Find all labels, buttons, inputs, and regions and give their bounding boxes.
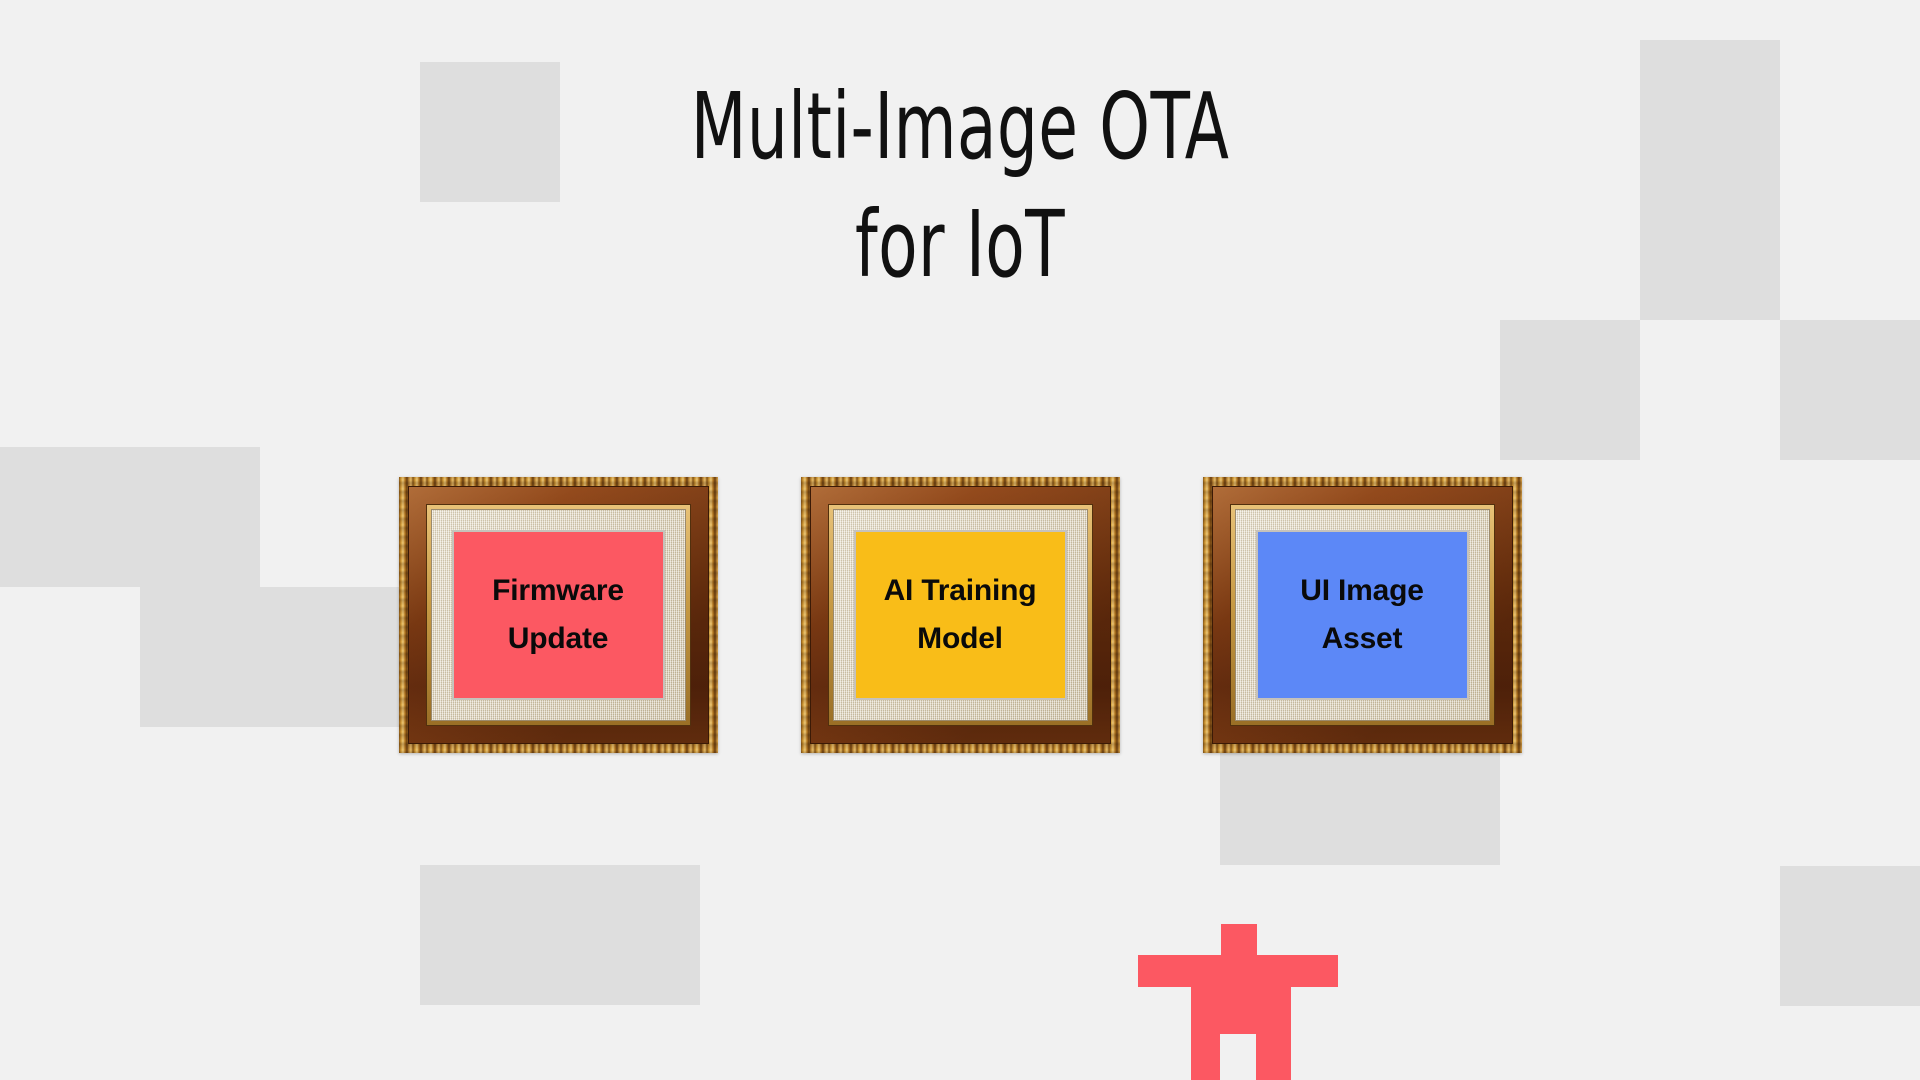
person-figure	[0, 0, 1920, 1080]
figure-leg-gap	[1220, 1034, 1256, 1080]
